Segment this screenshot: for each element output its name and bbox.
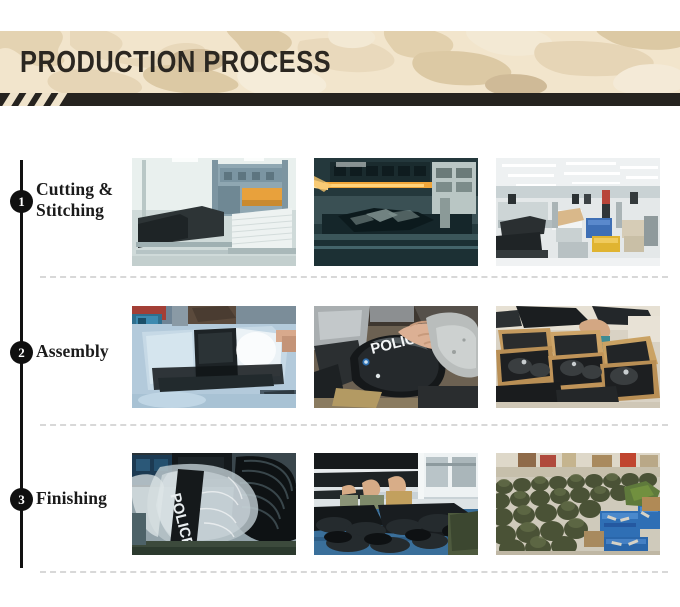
step-3-photo-2[interactable]	[314, 453, 478, 555]
finished-helmets-image	[496, 453, 660, 555]
step-2-photo-3[interactable]	[496, 306, 660, 408]
production-process-page: PRODUCTION PROCESS 1 Cutting & Stitching	[0, 0, 680, 607]
hazard-slashes-icon	[0, 93, 72, 106]
step-label-2-line1: Assembly	[36, 341, 134, 362]
divider-1	[40, 276, 668, 278]
step-2-photo-1[interactable]	[132, 306, 296, 408]
page-title-text: PRODUCTION PROCESS	[20, 44, 331, 80]
step-1-photo-3[interactable]	[496, 158, 660, 266]
step-label-3-line1: Finishing	[36, 488, 134, 509]
riot-shield-assembly-image	[132, 306, 296, 408]
component-boxes-image	[496, 306, 660, 408]
cutting-machine-image	[132, 158, 296, 266]
step-1-photo-2[interactable]	[314, 158, 478, 266]
step-label-2: Assembly	[36, 341, 134, 362]
divider-3	[40, 571, 668, 573]
header-stripe	[0, 93, 680, 106]
step-label-1-line2: Stitching	[36, 200, 128, 221]
step-marker-1: 1	[10, 190, 33, 213]
step-label-1: Cutting & Stitching	[36, 179, 128, 221]
step-number-1: 1	[18, 195, 25, 208]
police-helmet-assembly-image: POLICE	[314, 306, 478, 408]
step-1-photo-1[interactable]	[132, 158, 296, 266]
heat-press-oven-image	[314, 158, 478, 266]
step-number-2: 2	[18, 346, 25, 359]
step-3-photo-3[interactable]	[496, 453, 660, 555]
step-3-photo-1[interactable]: POLICE	[132, 453, 296, 555]
sewing-workshop-image	[496, 158, 660, 266]
step-label-3: Finishing	[36, 488, 134, 509]
step-2-photo-2[interactable]: POLICE	[314, 306, 478, 408]
divider-2	[40, 424, 668, 426]
step-number-3: 3	[18, 493, 25, 506]
packing-line-image	[314, 453, 478, 555]
page-title: PRODUCTION PROCESS	[20, 31, 660, 93]
step-marker-3: 3	[10, 488, 33, 511]
step-marker-2: 2	[10, 341, 33, 364]
step-label-1-line1: Cutting &	[36, 179, 128, 200]
shield-wrapping-image: POLICE	[132, 453, 296, 555]
